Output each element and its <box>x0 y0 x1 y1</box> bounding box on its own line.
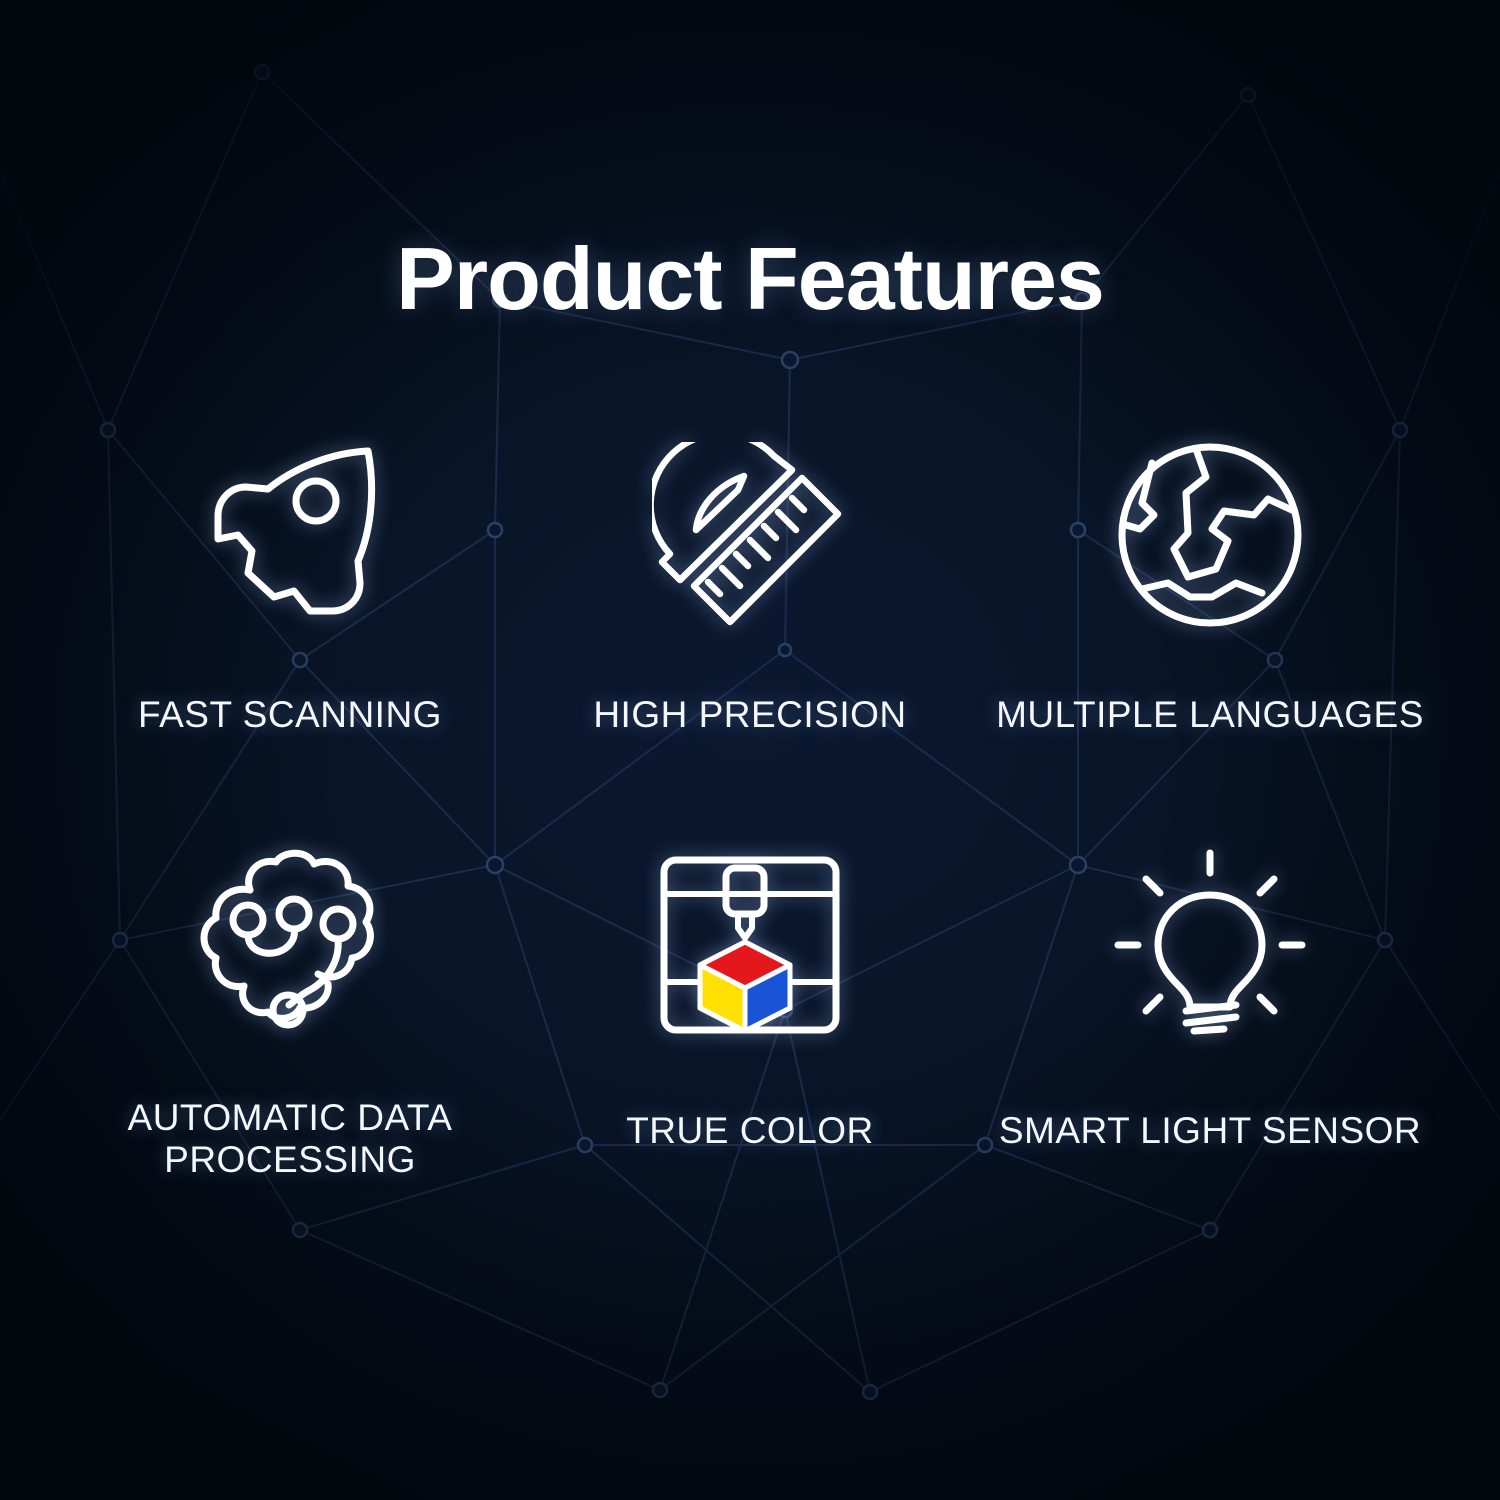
page-title: Product Features <box>0 235 1500 323</box>
feature-label: SMART LIGHT SENSOR <box>999 1110 1421 1151</box>
3d-printer-icon <box>654 820 846 1070</box>
brain-circuit-icon <box>190 820 390 1057</box>
feature-automatic-data-processing: AUTOMATIC DATA PROCESSING <box>60 820 520 1180</box>
ruler-protractor-icon <box>652 420 848 650</box>
feature-true-color: TRUE COLOR <box>520 820 980 1180</box>
feature-label: TRUE COLOR <box>626 1110 874 1151</box>
feature-label: HIGH PRECISION <box>593 694 906 735</box>
rocket-icon <box>190 420 390 650</box>
feature-high-precision: HIGH PRECISION <box>520 420 980 760</box>
lightbulb-icon <box>1112 820 1308 1070</box>
feature-fast-scanning: FAST SCANNING <box>60 420 520 760</box>
feature-label: MULTIPLE LANGUAGES <box>996 694 1424 735</box>
feature-smart-light-sensor: SMART LIGHT SENSOR <box>980 820 1440 1180</box>
feature-label: FAST SCANNING <box>138 694 442 735</box>
product-features-slide: Product Features FAST SCANNING <box>0 0 1500 1500</box>
feature-multiple-languages: MULTIPLE LANGUAGES <box>980 420 1440 760</box>
features-grid: FAST SCANNING <box>60 420 1440 1180</box>
feature-label: AUTOMATIC DATA PROCESSING <box>128 1097 453 1180</box>
globe-icon <box>1112 420 1308 650</box>
